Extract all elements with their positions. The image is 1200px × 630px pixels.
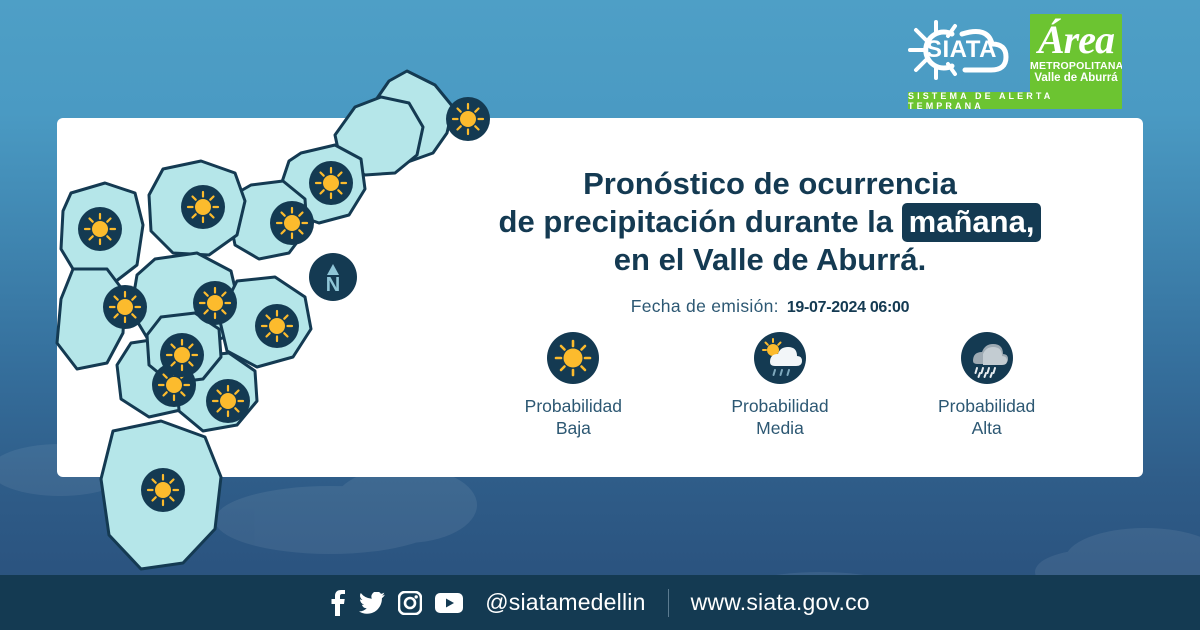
marker-sabaneta	[206, 379, 250, 423]
area-metropolitana-logo: Área METROPOLITANA Valle de Aburrá	[1030, 14, 1122, 92]
youtube-icon[interactable]	[435, 593, 463, 613]
legend-item-low: Probabilidad Baja	[486, 332, 661, 439]
area-valle-text: Valle de Aburrá	[1030, 72, 1122, 84]
marker-girardota	[309, 161, 353, 205]
legend-label-medium: Probabilidad Media	[692, 395, 867, 439]
facebook-icon[interactable]	[330, 590, 346, 616]
marker-copacabana	[270, 201, 314, 245]
social-icons	[330, 590, 463, 616]
sun-icon	[547, 332, 599, 384]
title-highlight-manana: mañana,	[902, 203, 1042, 242]
emission-date: Fecha de emisión: 19-07-2024 06:00	[450, 296, 1090, 317]
legend-item-medium: Probabilidad Media	[692, 332, 867, 439]
logo-group: SIATA Área METROPOLITANA Valle de Aburrá	[900, 14, 1122, 92]
legend-icon-medium	[754, 332, 806, 384]
legend-label-high: Probabilidad Alta	[899, 395, 1074, 439]
legend-icon-high	[961, 332, 1013, 384]
legend-label-high-line2: Alta	[899, 417, 1074, 439]
marker-san-pedro	[78, 207, 122, 251]
marker-medellin-n	[193, 281, 237, 325]
twitter-icon[interactable]	[359, 592, 385, 614]
title-line-3: en el Valle de Aburrá.	[450, 241, 1090, 279]
infographic-canvas: SIATA Área METROPOLITANA Valle de Aburrá…	[0, 0, 1200, 630]
legend-icon-low	[547, 332, 599, 384]
social-handle[interactable]: @siatamedellin	[485, 589, 645, 616]
legend-label-medium-line1: Probabilidad	[692, 395, 867, 417]
instagram-icon[interactable]	[398, 591, 422, 615]
legend-label-high-line1: Probabilidad	[899, 395, 1074, 417]
marker-caldas	[141, 468, 185, 512]
legend-item-high: Probabilidad Alta	[899, 332, 1074, 439]
siata-tagline: SISTEMA DE ALERTA TEMPRANA	[908, 92, 1122, 109]
title-line-1: Pronóstico de ocurrencia	[450, 165, 1090, 203]
title-line-2: de precipitación durante la mañana,	[450, 203, 1090, 241]
legend-label-low-line2: Baja	[486, 417, 661, 439]
area-metropolitana-text: METROPOLITANA	[1030, 60, 1122, 72]
footer-bar: @siatamedellin www.siata.gov.co	[0, 575, 1200, 630]
legend-label-low-line1: Probabilidad	[486, 395, 661, 417]
legend-label-medium-line2: Media	[692, 417, 867, 439]
marker-barbosa	[446, 97, 490, 141]
siata-wordmark: SIATA	[926, 36, 997, 64]
title-line-2-text: de precipitación durante la	[499, 204, 893, 239]
valle-de-aburra-map: N	[55, 45, 475, 575]
website-url[interactable]: www.siata.gov.co	[691, 589, 870, 616]
marker-bello	[181, 185, 225, 229]
marker-envigado	[255, 304, 299, 348]
probability-legend: Probabilidad Baja	[470, 332, 1090, 439]
sun-rain-cloud-icon	[754, 332, 806, 384]
emission-date-value: 19-07-2024 06:00	[787, 299, 909, 317]
footer-divider	[668, 589, 669, 617]
compass-north-icon: N	[309, 253, 357, 301]
compass-label: N	[326, 274, 340, 296]
emission-date-label: Fecha de emisión:	[631, 296, 779, 317]
siata-logo: SIATA	[900, 14, 1020, 86]
marker-la-estrella	[160, 333, 204, 377]
legend-label-low: Probabilidad Baja	[486, 395, 661, 439]
area-script-text: Área	[1030, 16, 1122, 63]
compass-rose: N	[309, 253, 357, 301]
rain-cloud-icon	[961, 332, 1013, 384]
title-block: Pronóstico de ocurrencia de precipitació…	[450, 165, 1090, 317]
marker-medellin-c	[103, 285, 147, 329]
